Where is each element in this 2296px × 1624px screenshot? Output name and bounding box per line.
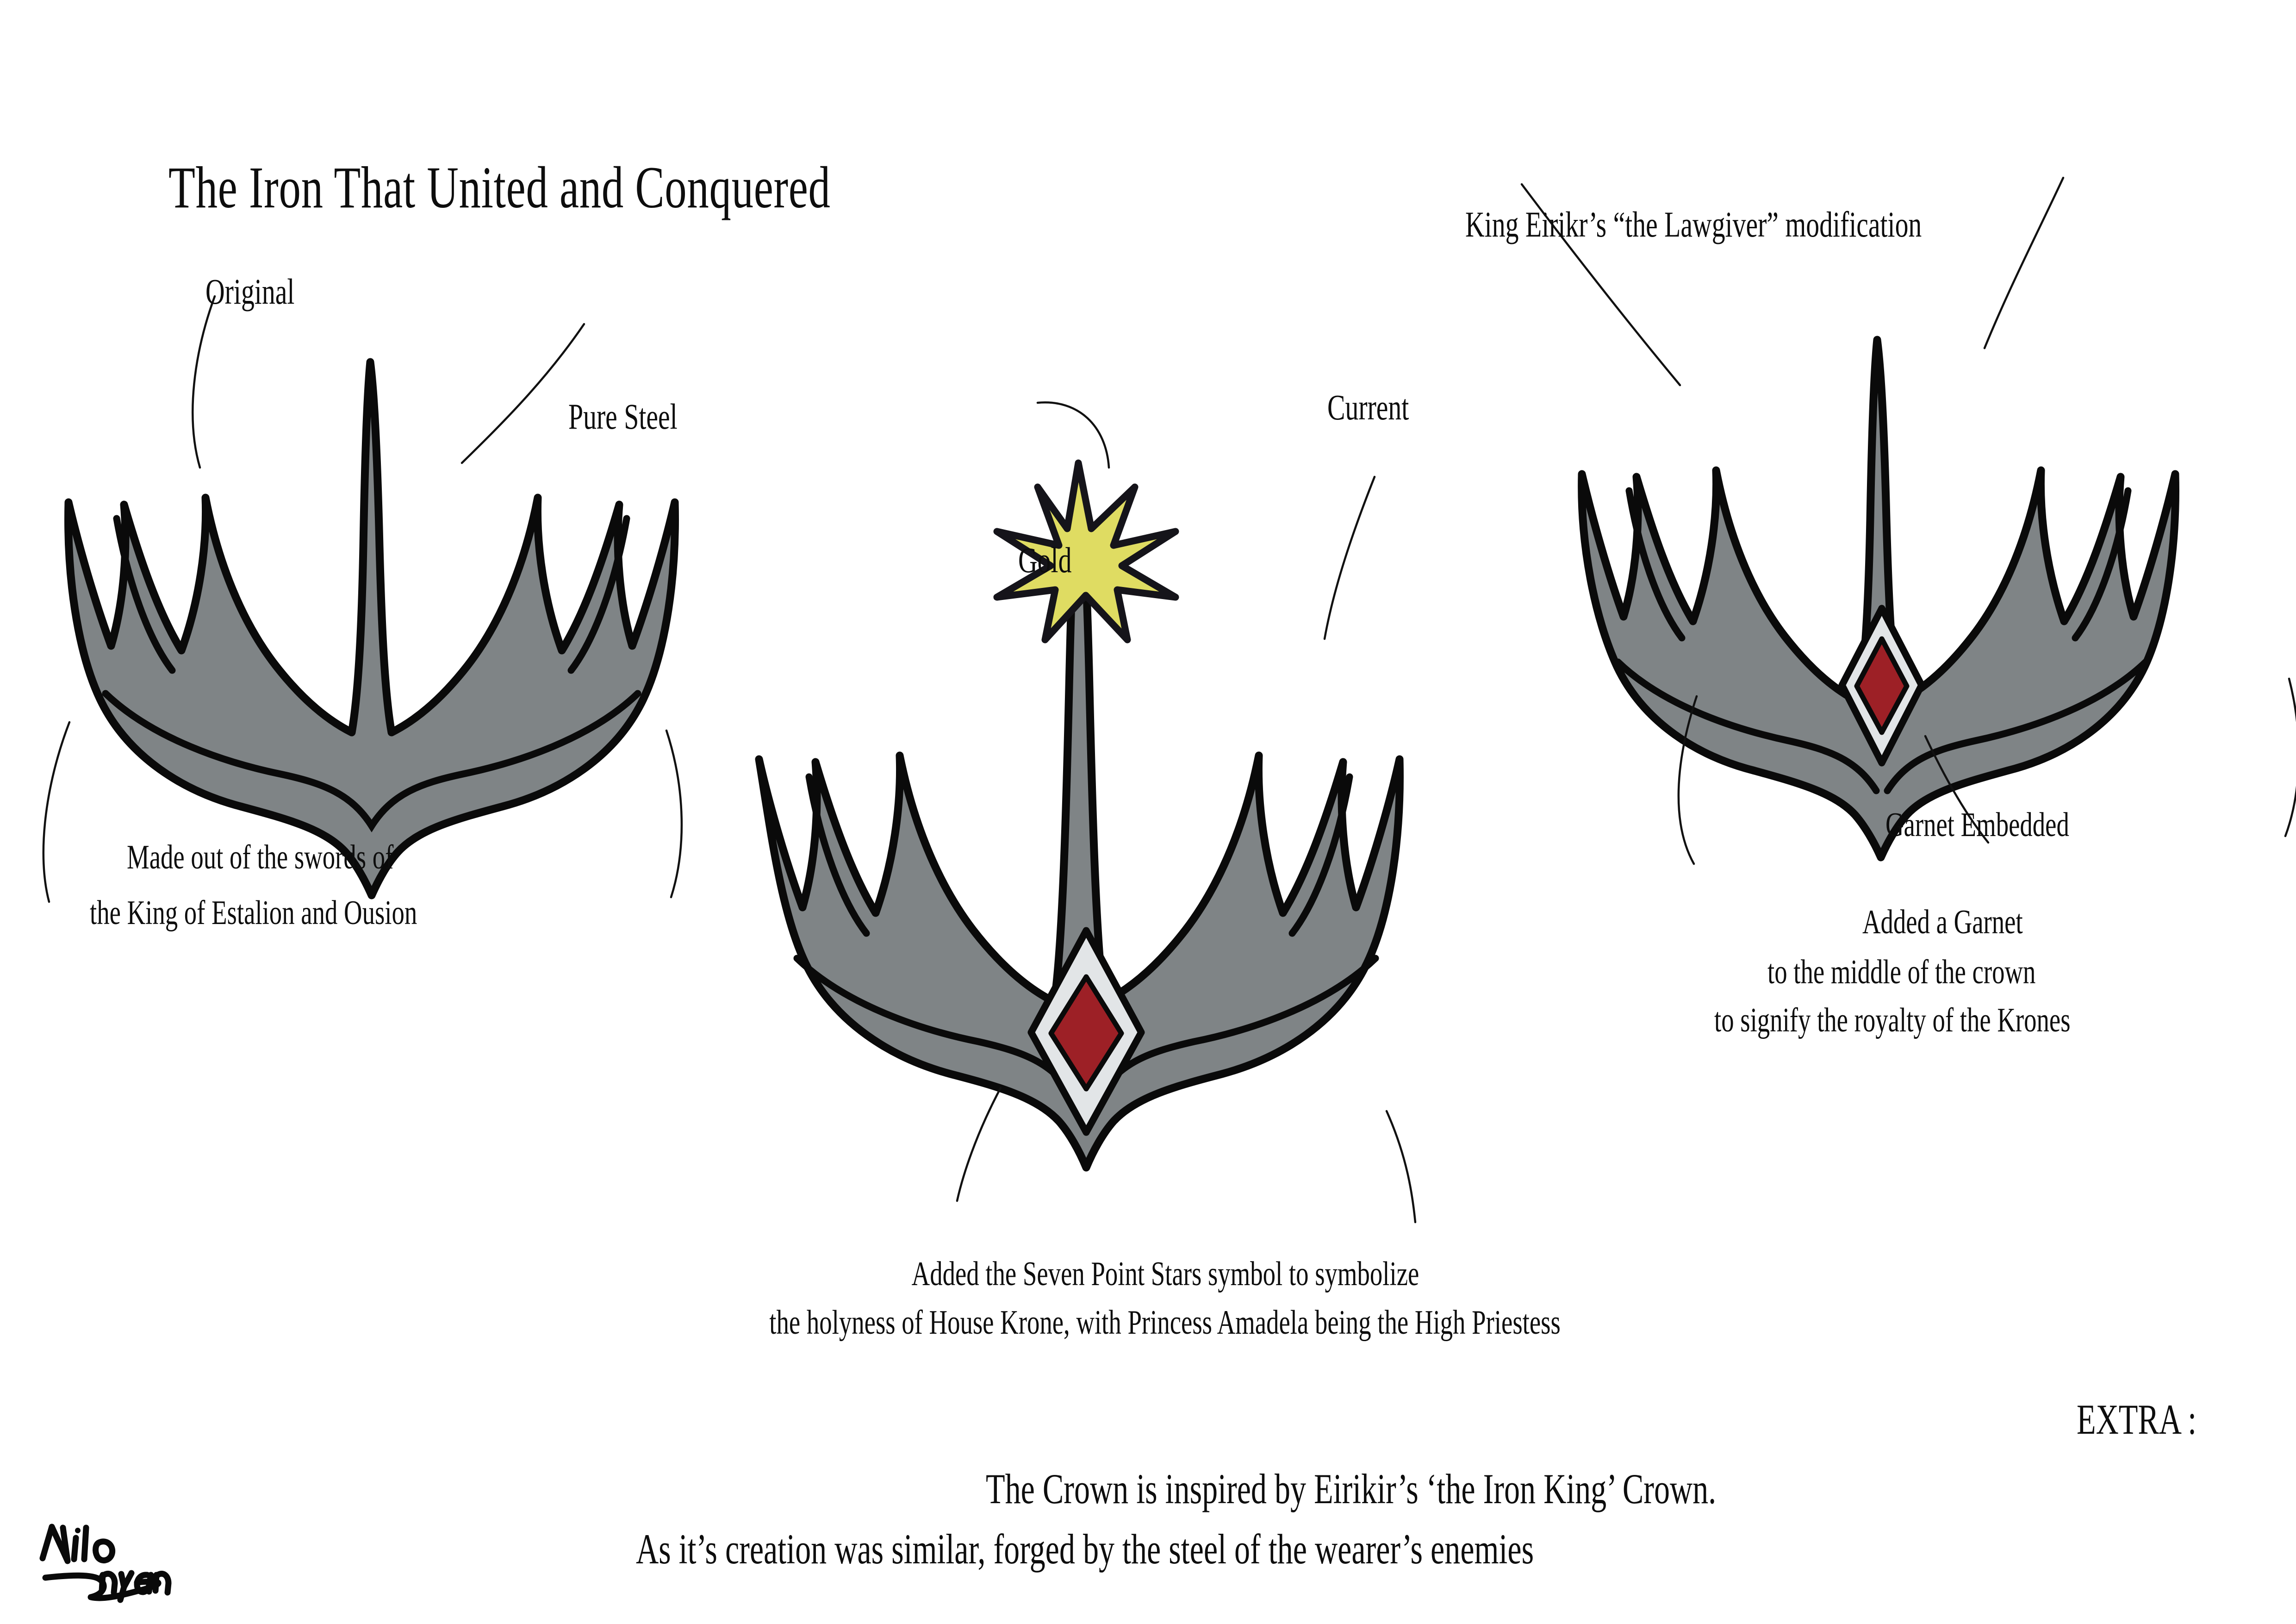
crown-lawgiver-garnet-gem — [1857, 639, 1907, 732]
caption-current-line-2-text: the holyness of House Krone, with Prince… — [770, 1301, 1561, 1345]
extra-line-2: As it’s creation was similar, forged by … — [593, 1468, 1849, 1624]
crown-current-garnet-gem — [1051, 977, 1121, 1089]
label-lawgiver-modification-text: King Eirikr’s “the Lawgiver” modificatio… — [1465, 201, 1922, 248]
label-pure-steel: Pure Steel — [532, 347, 716, 486]
caption-current-line-2: the holyness of House Krone, with Prince… — [0, 1257, 2296, 1388]
label-original: Original — [169, 222, 326, 361]
label-current: Current — [1291, 338, 1437, 476]
signature-stroke-N — [43, 1527, 68, 1561]
caption-original-line-2-text: the King of Estalion and Ousion — [90, 891, 417, 935]
extra-line-2-text: As it’s creation was similar, forged by … — [636, 1522, 1534, 1577]
signature-stroke-nyan — [102, 1573, 168, 1600]
signature-dot-i — [75, 1528, 81, 1533]
crown-lawgiver-inner-crease-right — [2075, 491, 2128, 638]
brace-center-caption-right — [1387, 1111, 1415, 1222]
crown-original-inner-crease-right — [571, 518, 627, 670]
page-title-text: The Iron That United and Conquered — [168, 150, 831, 226]
crown-original-inner-crease — [117, 518, 172, 670]
signature-underline-swoosh — [45, 1575, 158, 1598]
caption-lawgiver-line-3: to signify the royalty of the Krones — [1680, 955, 2196, 1086]
brace-right-caption-left — [1679, 696, 1697, 864]
crown-current-band-line — [797, 958, 1375, 1095]
crown-current-garnet-setting — [1031, 931, 1141, 1132]
crown-lawgiver-garnet-setting — [1842, 608, 1922, 763]
extra-heading-text: EXTRA : — [2077, 1393, 2196, 1447]
label-original-text: Original — [205, 269, 294, 315]
illustration-canvas: The Iron That United and Conquered Origi… — [0, 0, 2296, 1624]
signature-stroke-l — [84, 1528, 86, 1559]
crown-lawgiver-inner-crease-left — [1629, 491, 1682, 638]
artist-signature — [43, 1527, 168, 1600]
crown-current-inner-crease-left — [809, 777, 866, 933]
leader-line-gold — [1038, 402, 1109, 468]
label-garnet-embedded-text: Garnet Embedded — [1885, 803, 2069, 847]
leader-line-current — [1325, 477, 1375, 639]
brace-center-caption-left — [957, 1088, 1001, 1201]
label-gold: Gold — [982, 491, 1090, 629]
caption-lawgiver-line-3-text: to signify the royalty of the Krones — [1714, 999, 2071, 1043]
label-lawgiver-modification: King Eirikr’s “the Lawgiver” modificatio… — [1429, 155, 2082, 294]
extra-heading: EXTRA : — [2034, 1338, 2239, 1501]
label-pure-steel-text: Pure Steel — [568, 394, 678, 440]
brace-right-caption-right — [2285, 679, 2296, 836]
brace-left-caption-right — [666, 731, 682, 897]
label-gold-text: Gold — [1018, 537, 1071, 583]
crown-current-inner-crease-right — [1292, 777, 1350, 933]
caption-original-line-2: the King of Estalion and Ousion — [56, 847, 532, 979]
label-current-text: Current — [1327, 384, 1409, 431]
signature-stroke-o — [96, 1542, 112, 1561]
signature-stroke-i — [74, 1538, 76, 1559]
